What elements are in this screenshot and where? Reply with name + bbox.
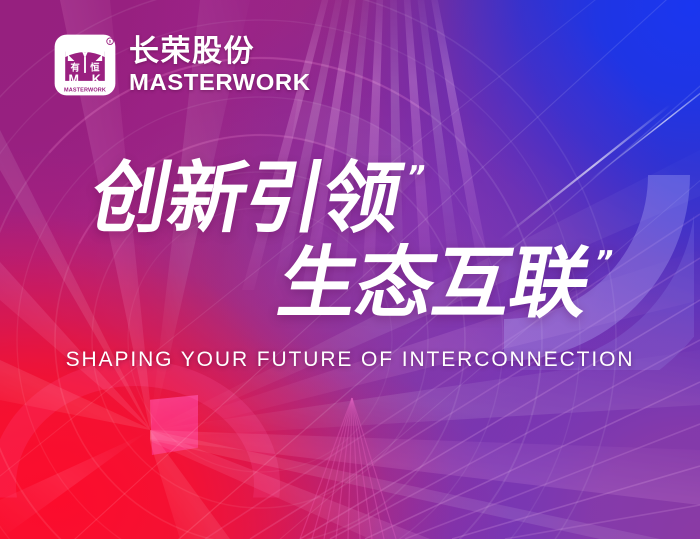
subtitle-tagline: SHAPING YOUR FUTURE OF INTERCONNECTION xyxy=(0,348,700,372)
svg-text:M: M xyxy=(69,72,79,86)
promotional-banner: R 有 恒 M K MASTERWORK 长荣股份 xyxy=(0,0,700,539)
brand-name-chinese: 长荣股份 xyxy=(129,37,304,67)
pink-quadrilateral-decoration xyxy=(150,395,198,455)
svg-text:K: K xyxy=(92,72,101,86)
brand-name-english: MASTERWORK xyxy=(129,71,310,94)
masterwork-mk-emblem-icon: R 有 恒 M K MASTERWORK xyxy=(52,32,118,98)
svg-text:恒: 恒 xyxy=(90,61,100,73)
brand-logo-lockup: R 有 恒 M K MASTERWORK 长荣股份 xyxy=(52,32,304,98)
svg-text:有: 有 xyxy=(70,61,79,73)
svg-text:MASTERWORK: MASTERWORK xyxy=(64,87,106,93)
svg-text:R: R xyxy=(109,39,112,44)
brand-wordmark: 长荣股份 MASTERWORK xyxy=(129,37,304,94)
